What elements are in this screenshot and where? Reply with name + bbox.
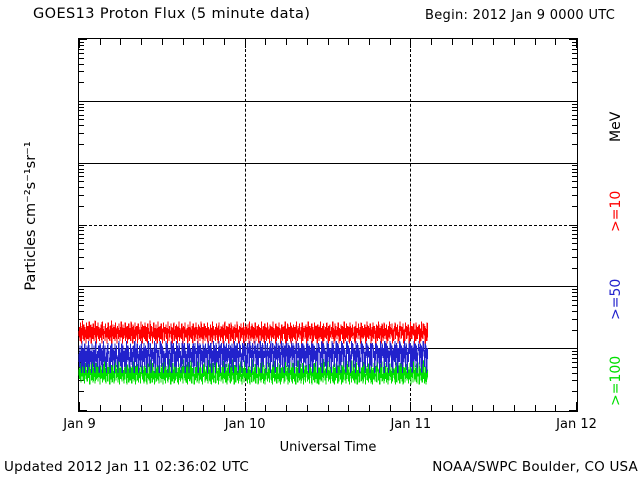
page-title: GOES13 Proton Flux (5 minute data) [33,6,310,22]
x-axis-label: Universal Time [78,440,578,455]
trace-10MeV [79,321,428,344]
begin-time-label: Begin: 2012 Jan 9 0000 UTC [425,8,615,23]
updated-timestamp: Updated 2012 Jan 11 02:36:02 UTC [4,459,249,475]
plot-area [78,38,578,412]
flux-traces [79,39,576,410]
y-major-tick-1e-2 [79,410,87,411]
legend-item-50: >=50 [608,279,624,320]
x-tick-label-1: Jan 10 [225,417,266,432]
x-tick-label-2: Jan 11 [390,417,431,432]
credit-label: NOAA/SWPC Boulder, CO USA [432,459,638,475]
x-major-tick [576,39,577,48]
legend-item-10: >=10 [608,191,624,232]
x-major-tick [576,402,577,411]
legend-item-100: >=100 [608,356,624,406]
x-tick-label-3: Jan 12 [556,417,597,432]
y-axis-label: Particles cm⁻²s⁻¹sr⁻¹ [23,106,39,326]
legend-item-MeV: MeV [608,112,624,142]
x-tick-label-0: Jan 9 [63,417,95,432]
